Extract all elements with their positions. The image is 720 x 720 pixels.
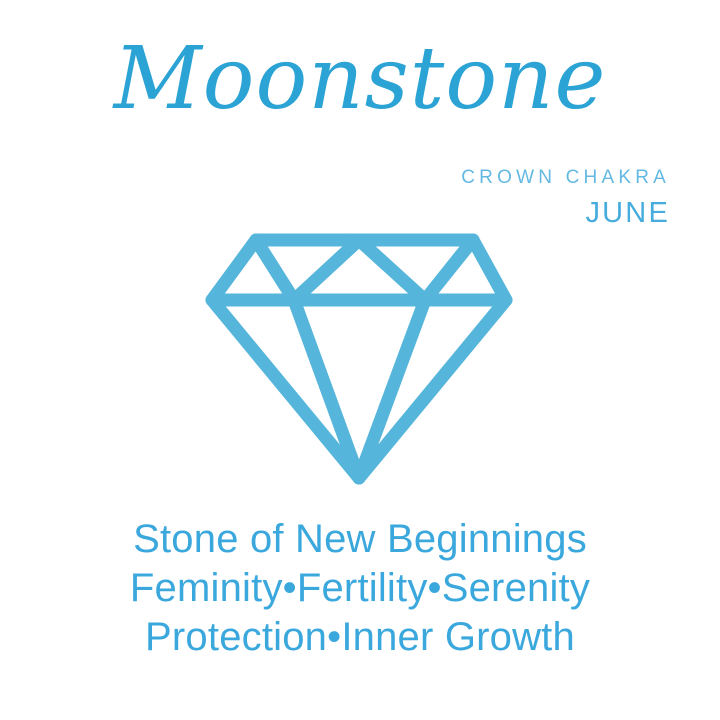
- chakra-label: CROWN CHAKRA: [461, 168, 670, 187]
- tagline-line-1: Stone of New Beginnings: [0, 515, 720, 564]
- diamond-crown-facets: [256, 240, 473, 300]
- tagline-block: Stone of New Beginnings Feminity•Fertili…: [0, 515, 720, 661]
- page-title: Moonstone: [0, 34, 720, 124]
- diamond-graphic: [190, 222, 530, 494]
- tagline-line-3: Protection•Inner Growth: [0, 613, 720, 662]
- moonstone-card: Moonstone CROWN CHAKRA JUNE Stone of New…: [0, 0, 720, 720]
- diamond-icon: [190, 222, 530, 494]
- meta-block: CROWN CHAKRA JUNE: [461, 168, 670, 228]
- diamond-pavilion-facet-right: [359, 300, 425, 478]
- diamond-pavilion-facet-left: [294, 300, 359, 478]
- tagline-line-2: Feminity•Fertility•Serenity: [0, 564, 720, 613]
- diamond-outline: [212, 240, 506, 478]
